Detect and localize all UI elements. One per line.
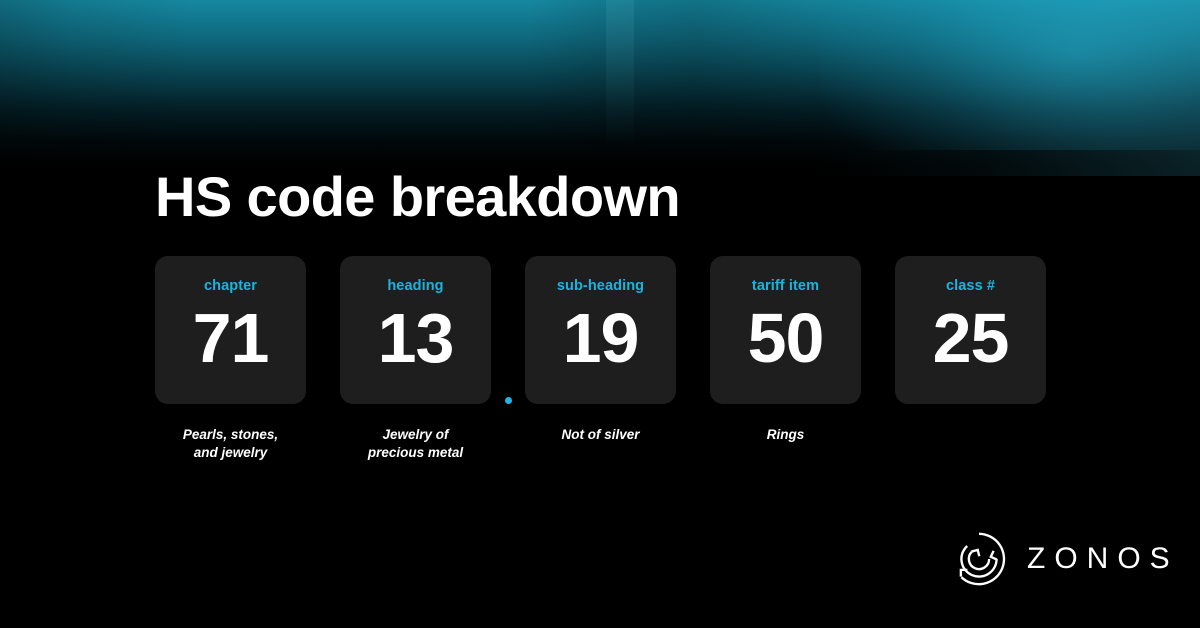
hs-code-label: tariff item [752, 278, 819, 294]
hs-code-value: 13 [378, 297, 454, 379]
hs-code-caption: Pearls, stones, and jewelry [183, 426, 278, 462]
slide-canvas: HS code breakdown chapter 71 Pearls, sto… [0, 0, 1200, 628]
hs-code-card-row: chapter 71 Pearls, stones, and jewelry h… [155, 256, 1046, 462]
hs-code-caption: Not of silver [561, 426, 639, 444]
hs-code-label: sub-heading [557, 278, 644, 294]
hs-code-label: heading [387, 278, 443, 294]
hs-code-cell-heading: heading 13 Jewelry of precious metal [340, 256, 491, 462]
zonos-wordmark: ZONOS [1025, 543, 1179, 575]
hs-code-card[interactable]: heading 13 [340, 256, 491, 404]
brand-lockup: ZONOS [950, 530, 1179, 588]
hs-code-value: 50 [748, 297, 824, 379]
hs-code-value: 19 [563, 297, 639, 379]
hs-code-card[interactable]: chapter 71 [155, 256, 306, 404]
hs-code-cell-class-number: class # 25 [895, 256, 1046, 462]
hs-code-caption: Rings [767, 426, 805, 444]
hs-code-card[interactable]: class # 25 [895, 256, 1046, 404]
hs-code-cell-sub-heading: sub-heading 19 Not of silver [525, 256, 676, 462]
hs-code-label: class # [946, 278, 995, 294]
hs-code-caption: Jewelry of precious metal [368, 426, 463, 462]
hs-code-card[interactable]: sub-heading 19 [525, 256, 676, 404]
gradient-sheen-band [606, 0, 634, 150]
hs-code-value: 25 [933, 297, 1009, 379]
hs-code-cell-chapter: chapter 71 Pearls, stones, and jewelry [155, 256, 306, 462]
top-teal-gradient [0, 0, 1200, 176]
hs-code-card[interactable]: tariff item 50 [710, 256, 861, 404]
page-title: HS code breakdown [155, 163, 680, 231]
cyan-accent-dot [505, 397, 512, 404]
hs-code-label: chapter [204, 278, 257, 294]
hs-code-cell-tariff-item: tariff item 50 Rings [710, 256, 861, 462]
hs-code-value: 71 [193, 297, 269, 379]
zonos-swirl-logo-icon [950, 530, 1008, 588]
gradient-hotspot-glow [820, 0, 1200, 150]
